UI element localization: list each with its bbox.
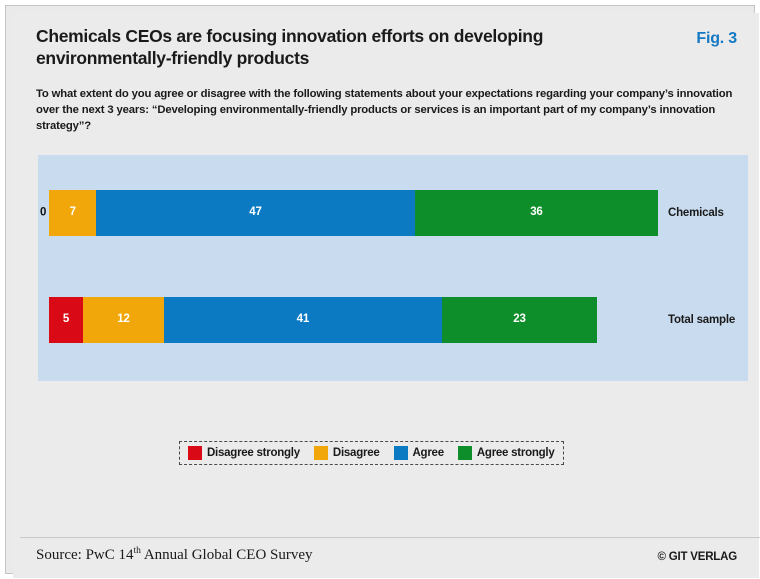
bar-segment[interactable]: 12 — [83, 297, 164, 343]
stacked-bar: 074736 — [49, 190, 658, 236]
bar-category-label: Chemicals — [668, 190, 724, 236]
bar-segment-value: 5 — [63, 314, 69, 326]
figure-subtitle: To what extent do you agree or disagree … — [36, 86, 742, 134]
figure-page: Chemicals CEOs are focusing innovation e… — [0, 0, 760, 579]
bar-category-label: Total sample — [668, 297, 735, 343]
page-title: Chemicals CEOs are focusing innovation e… — [36, 26, 636, 70]
bar-segment[interactable]: 23 — [442, 297, 598, 343]
legend-item[interactable]: Agree — [394, 446, 444, 460]
legend-swatch-icon — [458, 446, 472, 460]
bar-segment-value: 7 — [70, 207, 76, 219]
chart-legend: Disagree stronglyDisagreeAgreeAgree stro… — [179, 441, 564, 465]
bar-segment[interactable]: 41 — [164, 297, 442, 343]
figure-inner: Chemicals CEOs are focusing innovation e… — [13, 13, 759, 578]
source-ordinal-suffix: th — [134, 546, 141, 556]
stacked-bar: 5124123 — [49, 297, 597, 343]
legend-swatch-icon — [394, 446, 408, 460]
bar-segment-value: 36 — [530, 207, 542, 219]
bar-segment-value: 47 — [249, 207, 261, 219]
copyright-label: © GIT VERLAG — [657, 551, 737, 563]
source-suffix: Annual Global CEO Survey — [141, 547, 313, 563]
bar-segment[interactable]: 47 — [96, 190, 414, 236]
legend-item-label: Disagree strongly — [207, 447, 300, 459]
bar-segment-value: 41 — [297, 314, 309, 326]
legend-swatch-icon — [314, 446, 328, 460]
legend-item[interactable]: Disagree strongly — [188, 446, 300, 460]
bar-segment[interactable]: 7 — [49, 190, 96, 236]
chart-bar-row: 5124123Total sample — [38, 297, 748, 343]
source-prefix: Source: PwC 14 — [36, 547, 134, 563]
figure-frame: Chemicals CEOs are focusing innovation e… — [5, 5, 755, 574]
source-note: Source: PwC 14th Annual Global CEO Surve… — [36, 546, 313, 564]
chart-plot-area: 074736Chemicals5124123Total sample — [38, 155, 748, 381]
bar-segment[interactable]: 5 — [49, 297, 83, 343]
bar-segment-value: 12 — [117, 314, 129, 326]
bar-segment-value: 0 — [40, 207, 46, 219]
chart-bar-row: 074736Chemicals — [38, 190, 748, 236]
legend-item[interactable]: Disagree — [314, 446, 380, 460]
bar-segment[interactable]: 36 — [415, 190, 659, 236]
footer-divider — [20, 537, 760, 538]
legend-item-label: Agree strongly — [477, 447, 555, 459]
legend-swatch-icon — [188, 446, 202, 460]
figure-number-label: Fig. 3 — [696, 30, 737, 48]
legend-item[interactable]: Agree strongly — [458, 446, 555, 460]
legend-item-label: Disagree — [333, 447, 380, 459]
bar-segment-value: 23 — [513, 314, 525, 326]
legend-item-label: Agree — [413, 447, 444, 459]
